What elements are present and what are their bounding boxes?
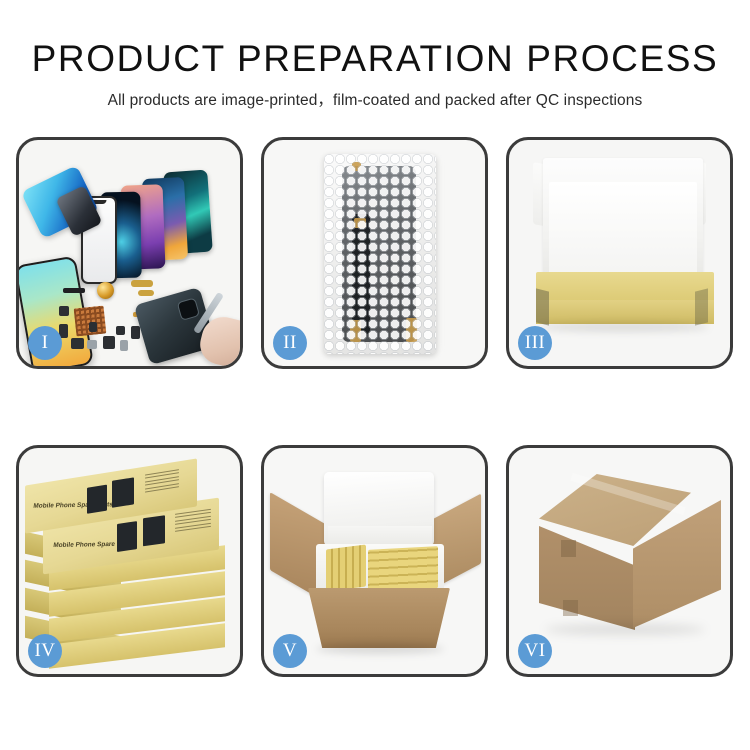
camera-module-part — [97, 282, 114, 299]
process-panel-grid: I II — [16, 137, 734, 677]
panel-step-4: Mobile Phone Spare Parts Mobile Phone Sp… — [16, 445, 243, 677]
small-part — [71, 338, 84, 349]
box-label-phone-image — [117, 521, 137, 552]
carton-shadow — [545, 624, 705, 635]
header: PRODUCT PREPARATION PROCESS All products… — [0, 0, 750, 110]
box-label-phone-image — [143, 515, 165, 546]
carton-body — [308, 588, 450, 648]
bubble-wrap-bag — [324, 154, 436, 354]
panel-step-5: V — [261, 445, 488, 677]
step-badge: II — [273, 326, 307, 360]
carton-shadow — [316, 644, 444, 654]
bubble-texture — [324, 154, 436, 354]
step-badge: I — [28, 326, 62, 360]
small-part — [89, 322, 97, 332]
white-foam-sheet — [549, 182, 697, 278]
product-preparation-process-infographic: PRODUCT PREPARATION PROCESS All products… — [0, 0, 750, 750]
flex-cable-part — [131, 280, 153, 287]
box-label-spec-lines — [175, 509, 211, 534]
small-part — [131, 326, 140, 339]
step-badge: V — [273, 634, 307, 668]
flex-cable-part — [138, 290, 154, 296]
carton-tape-mark — [563, 600, 578, 616]
box-shadow — [539, 322, 709, 332]
kraft-box-edge-left — [536, 288, 549, 325]
yellow-boxes-group-right — [368, 546, 438, 592]
camera-lens-icon — [177, 297, 201, 321]
step-badge: III — [518, 326, 552, 360]
page-subtitle: All products are image-printed，film-coat… — [0, 88, 750, 110]
small-part — [120, 340, 128, 351]
step-badge: IV — [28, 634, 62, 668]
small-part — [103, 336, 115, 349]
step-badge: VI — [518, 634, 552, 668]
small-part — [59, 306, 69, 316]
box-label-spec-lines — [145, 469, 179, 495]
small-part — [116, 326, 125, 335]
carton-tape-mark — [561, 540, 576, 557]
box-label-phone-image — [87, 485, 107, 514]
page-title: PRODUCT PREPARATION PROCESS — [0, 40, 750, 79]
kraft-box-front — [536, 300, 714, 324]
panel-step-2: II — [261, 137, 488, 369]
kraft-box-edge-right — [695, 288, 708, 325]
panel-step-1: I — [16, 137, 243, 369]
panel-step-3: III — [506, 137, 733, 369]
box-label-phone-image — [112, 477, 134, 507]
small-part — [87, 340, 97, 349]
panel-step-6: VI — [506, 445, 733, 677]
yellow-boxes-group-left — [326, 545, 366, 592]
speaker-part — [63, 288, 85, 293]
